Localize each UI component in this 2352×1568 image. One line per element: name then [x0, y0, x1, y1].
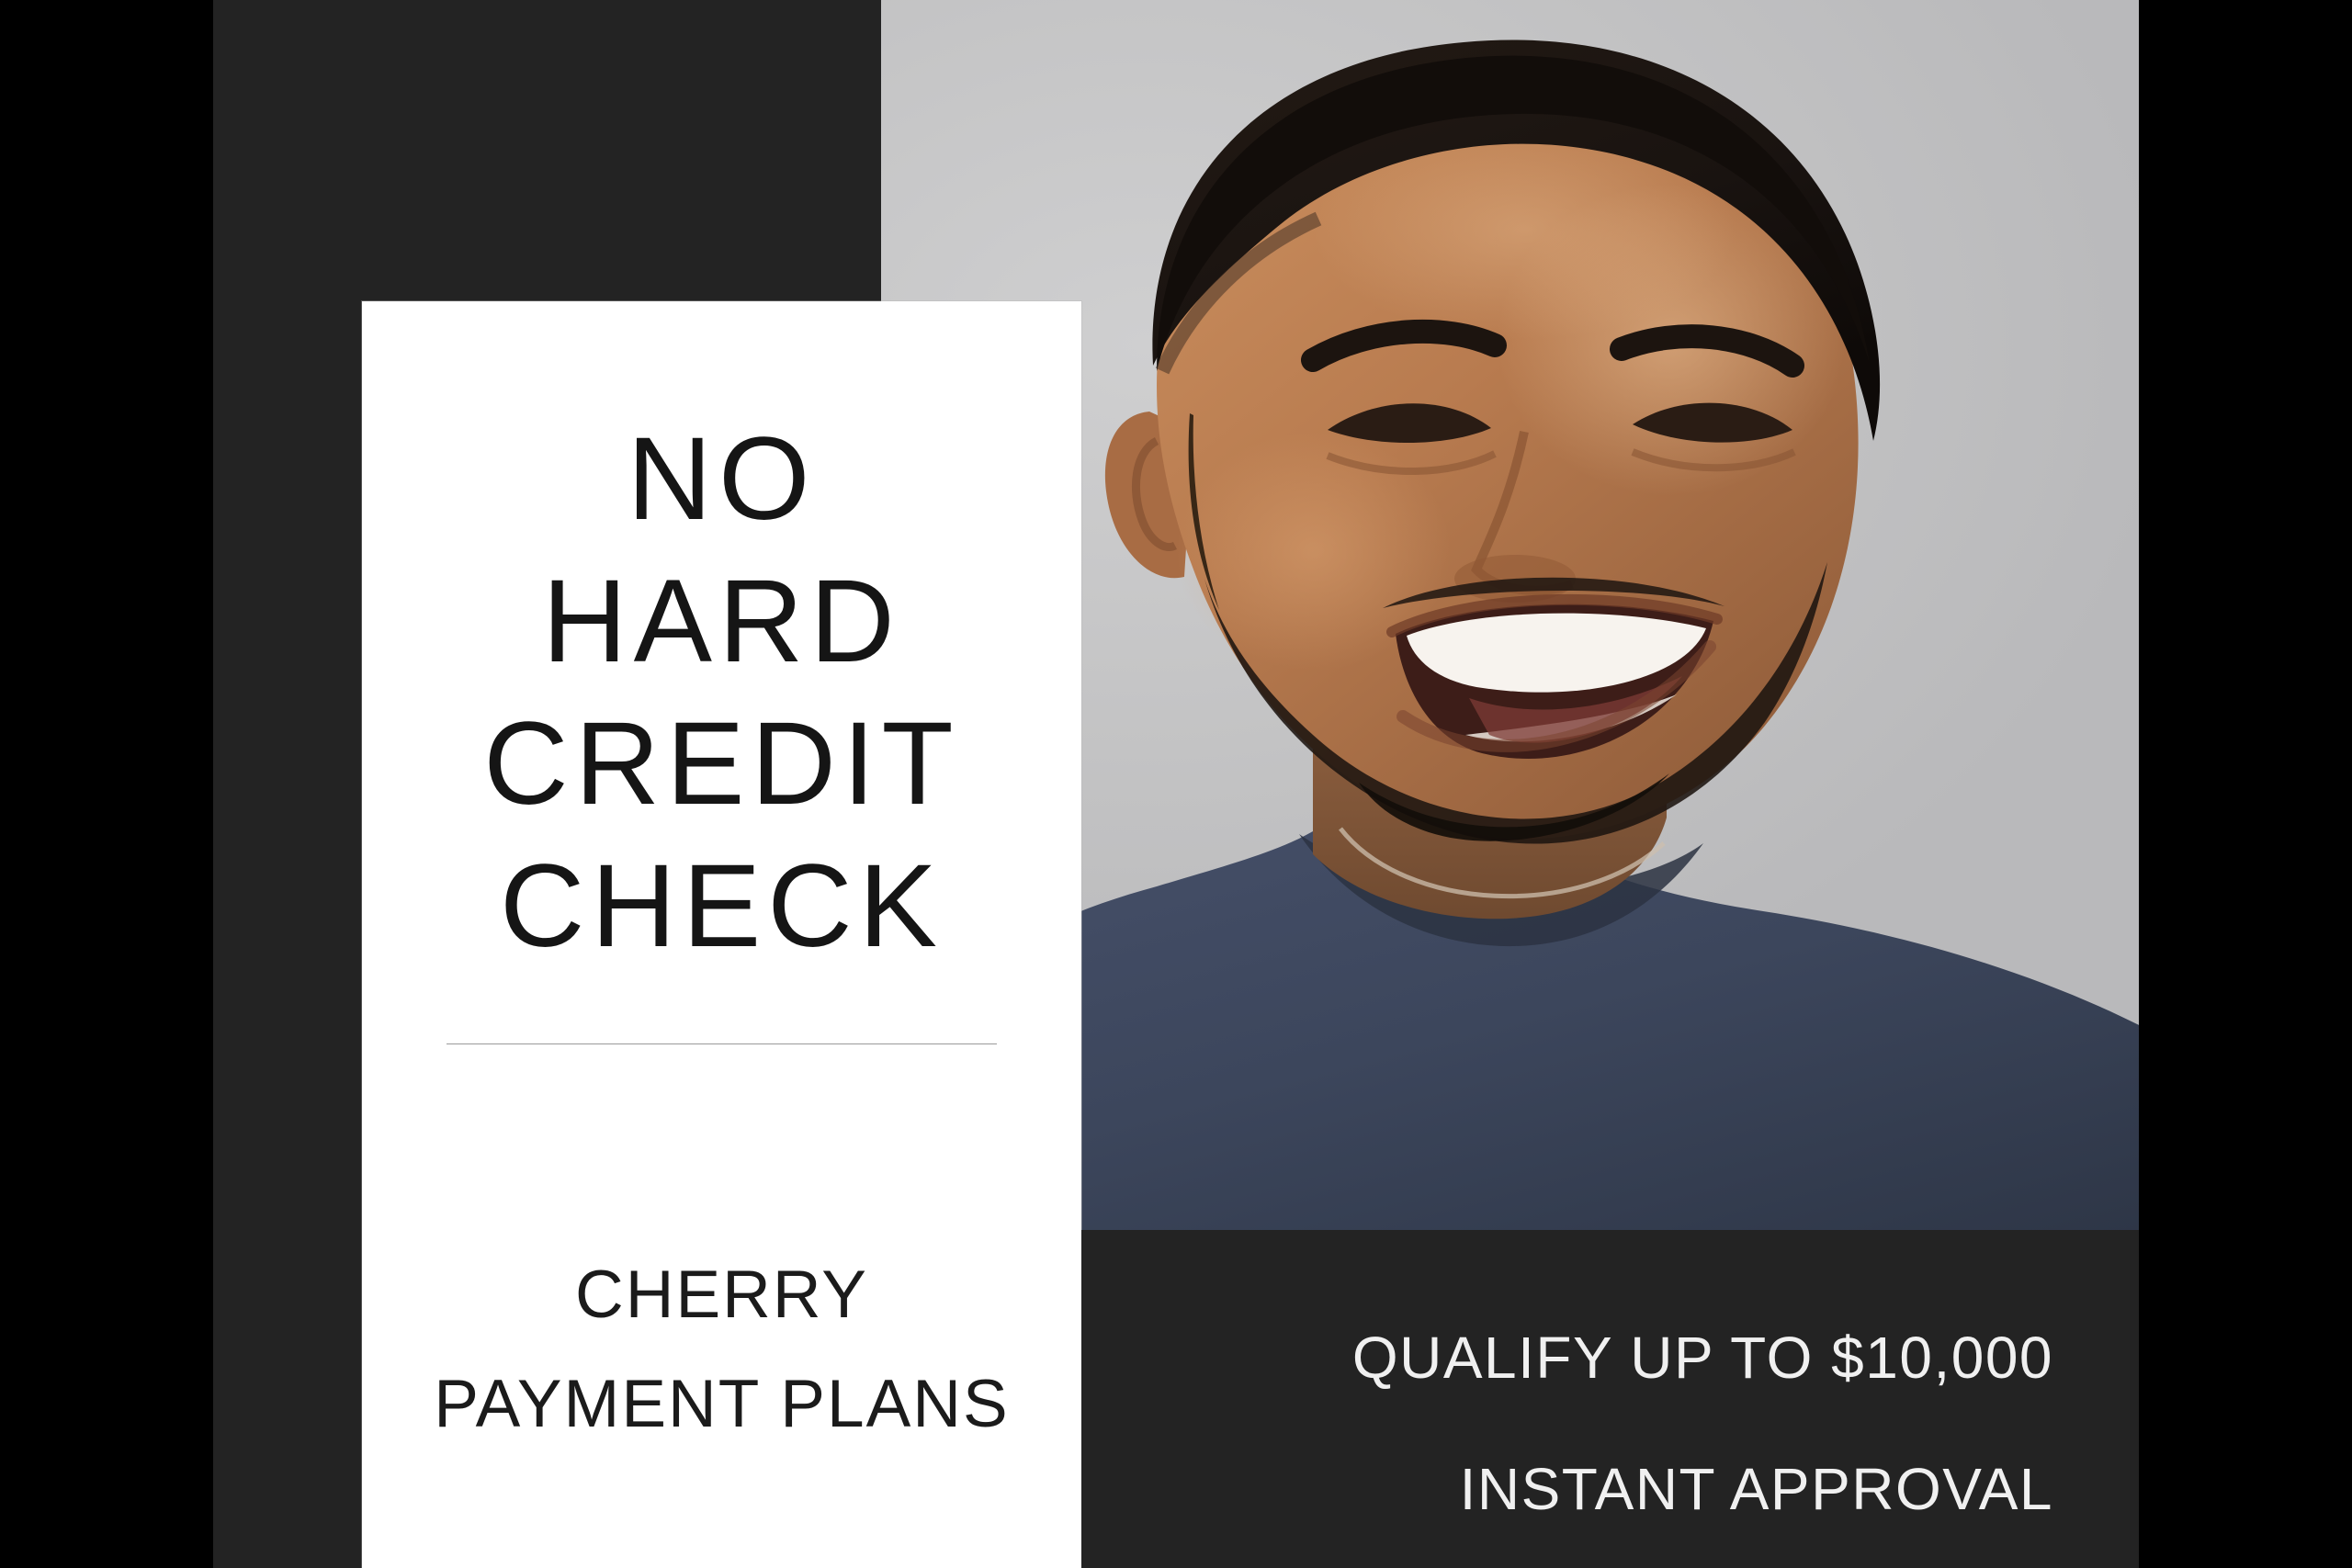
headline-line-3: CREDIT [362, 693, 1081, 835]
offer-card: NO HARD CREDIT CHECK CHERRY PAYMENT PLAN… [362, 301, 1081, 1568]
headline-line-1: NO [362, 408, 1081, 550]
brand-line-1: CHERRY [362, 1240, 1081, 1349]
letterbox-bar-right [2139, 0, 2352, 1568]
headline-divider [447, 1043, 997, 1044]
brand-name: CHERRY PAYMENT PLANS [362, 1240, 1081, 1459]
headline-line-4: CHECK [362, 835, 1081, 977]
offer-line-approval: INSTANT APPROVAL [1352, 1424, 2053, 1555]
letterbox-bar-left [0, 0, 213, 1568]
ad-canvas: NO HARD CREDIT CHECK CHERRY PAYMENT PLAN… [0, 0, 2352, 1568]
offer-banner: QUALIFY UP TO $10,000 INSTANT APPROVAL [1081, 1230, 2139, 1568]
offer-line-qualify: QUALIFY UP TO $10,000 [1352, 1292, 2053, 1424]
headline: NO HARD CREDIT CHECK [362, 408, 1081, 977]
content-stage: NO HARD CREDIT CHECK CHERRY PAYMENT PLAN… [213, 0, 2139, 1568]
brand-line-2: PAYMENT PLANS [362, 1349, 1081, 1459]
headline-line-2: HARD [362, 550, 1081, 693]
offer-banner-text: QUALIFY UP TO $10,000 INSTANT APPROVAL [1352, 1292, 2053, 1555]
